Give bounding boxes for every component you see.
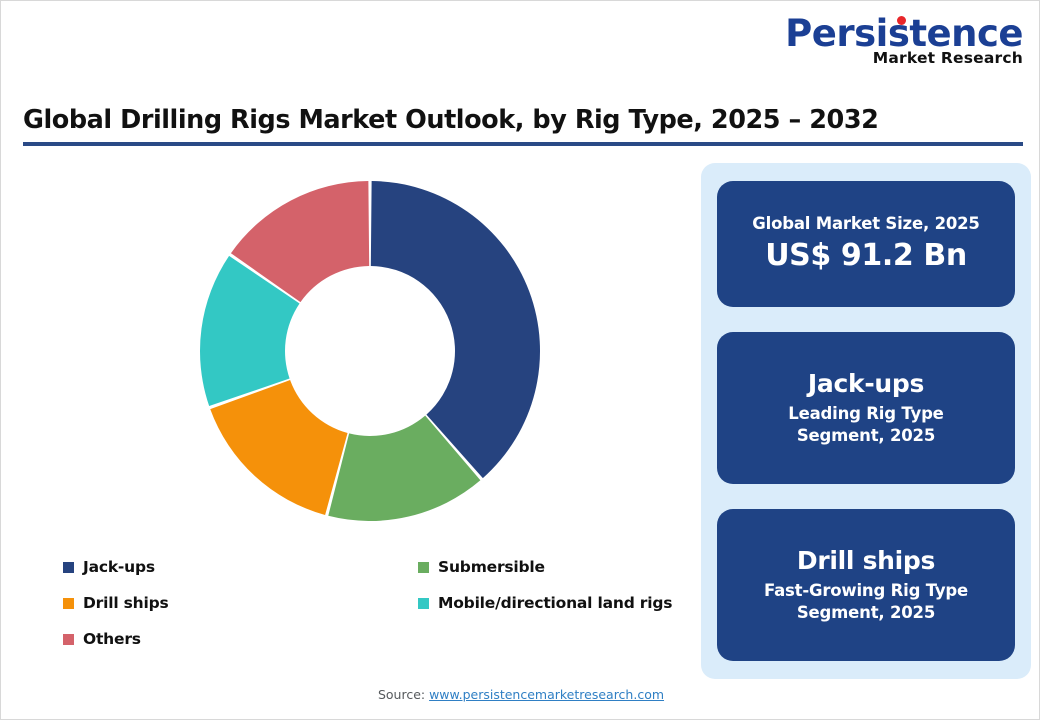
logo-wordmark: Persistence Market Research	[785, 15, 1023, 67]
fast-growing-segment-sub-line1: Fast-Growing Rig Type	[764, 580, 968, 602]
fast-growing-segment-sub-line2: Segment, 2025	[797, 602, 935, 624]
market-size-value: US$ 91.2 Bn	[765, 239, 967, 274]
company-logo: Persistence Market Research	[771, 15, 1023, 77]
legend-label-jack-ups: Jack-ups	[83, 558, 155, 576]
donut-slice-group	[200, 181, 540, 521]
legend-label-drill-ships: Drill ships	[83, 594, 169, 612]
chart-legend: Jack-ups Submersible Drill ships Mobile/…	[63, 549, 683, 657]
chart-area	[1, 161, 691, 551]
legend-item-submersible[interactable]: Submersible	[418, 558, 683, 576]
infographic-page: Persistence Market Research Global Drill…	[0, 0, 1040, 720]
market-size-caption: Global Market Size, 2025	[752, 214, 979, 235]
page-title: Global Drilling Rigs Market Outlook, by …	[23, 105, 1023, 135]
source-line: Source: www.persistencemarketresearch.co…	[1, 687, 1040, 702]
legend-swatch-others	[63, 634, 74, 645]
market-size-card: Global Market Size, 2025 US$ 91.2 Bn	[717, 181, 1015, 307]
legend-item-drill-ships[interactable]: Drill ships	[63, 594, 418, 612]
donut-slice-drill-ships[interactable]	[210, 380, 347, 515]
legend-label-submersible: Submersible	[438, 558, 545, 576]
leading-segment-heading: Jack-ups	[808, 369, 924, 399]
legend-swatch-jack-ups	[63, 562, 74, 573]
source-url-link[interactable]: www.persistencemarketresearch.com	[429, 687, 664, 702]
leading-segment-sub-line1: Leading Rig Type	[788, 403, 943, 425]
highlights-panel: Global Market Size, 2025 US$ 91.2 Bn Jac…	[701, 163, 1031, 679]
leading-segment-sub-line2: Segment, 2025	[797, 425, 935, 447]
source-label: Source:	[378, 687, 429, 702]
legend-label-mobile-directional-land-rigs: Mobile/directional land rigs	[438, 594, 672, 612]
leading-segment-card: Jack-ups Leading Rig Type Segment, 2025	[717, 332, 1015, 484]
title-block: Global Drilling Rigs Market Outlook, by …	[23, 105, 1023, 146]
legend-swatch-drill-ships	[63, 598, 74, 609]
legend-label-others: Others	[83, 630, 141, 648]
fast-growing-segment-card: Drill ships Fast-Growing Rig Type Segmen…	[717, 509, 1015, 661]
legend-item-mobile-directional-land-rigs[interactable]: Mobile/directional land rigs	[418, 594, 683, 612]
donut-chart	[1, 161, 691, 551]
legend-swatch-submersible	[418, 562, 429, 573]
legend-item-jack-ups[interactable]: Jack-ups	[63, 558, 418, 576]
fast-growing-segment-heading: Drill ships	[797, 546, 935, 576]
title-underline	[23, 142, 1023, 146]
legend-item-others[interactable]: Others	[63, 630, 418, 648]
legend-swatch-mobile-directional-land-rigs	[418, 598, 429, 609]
